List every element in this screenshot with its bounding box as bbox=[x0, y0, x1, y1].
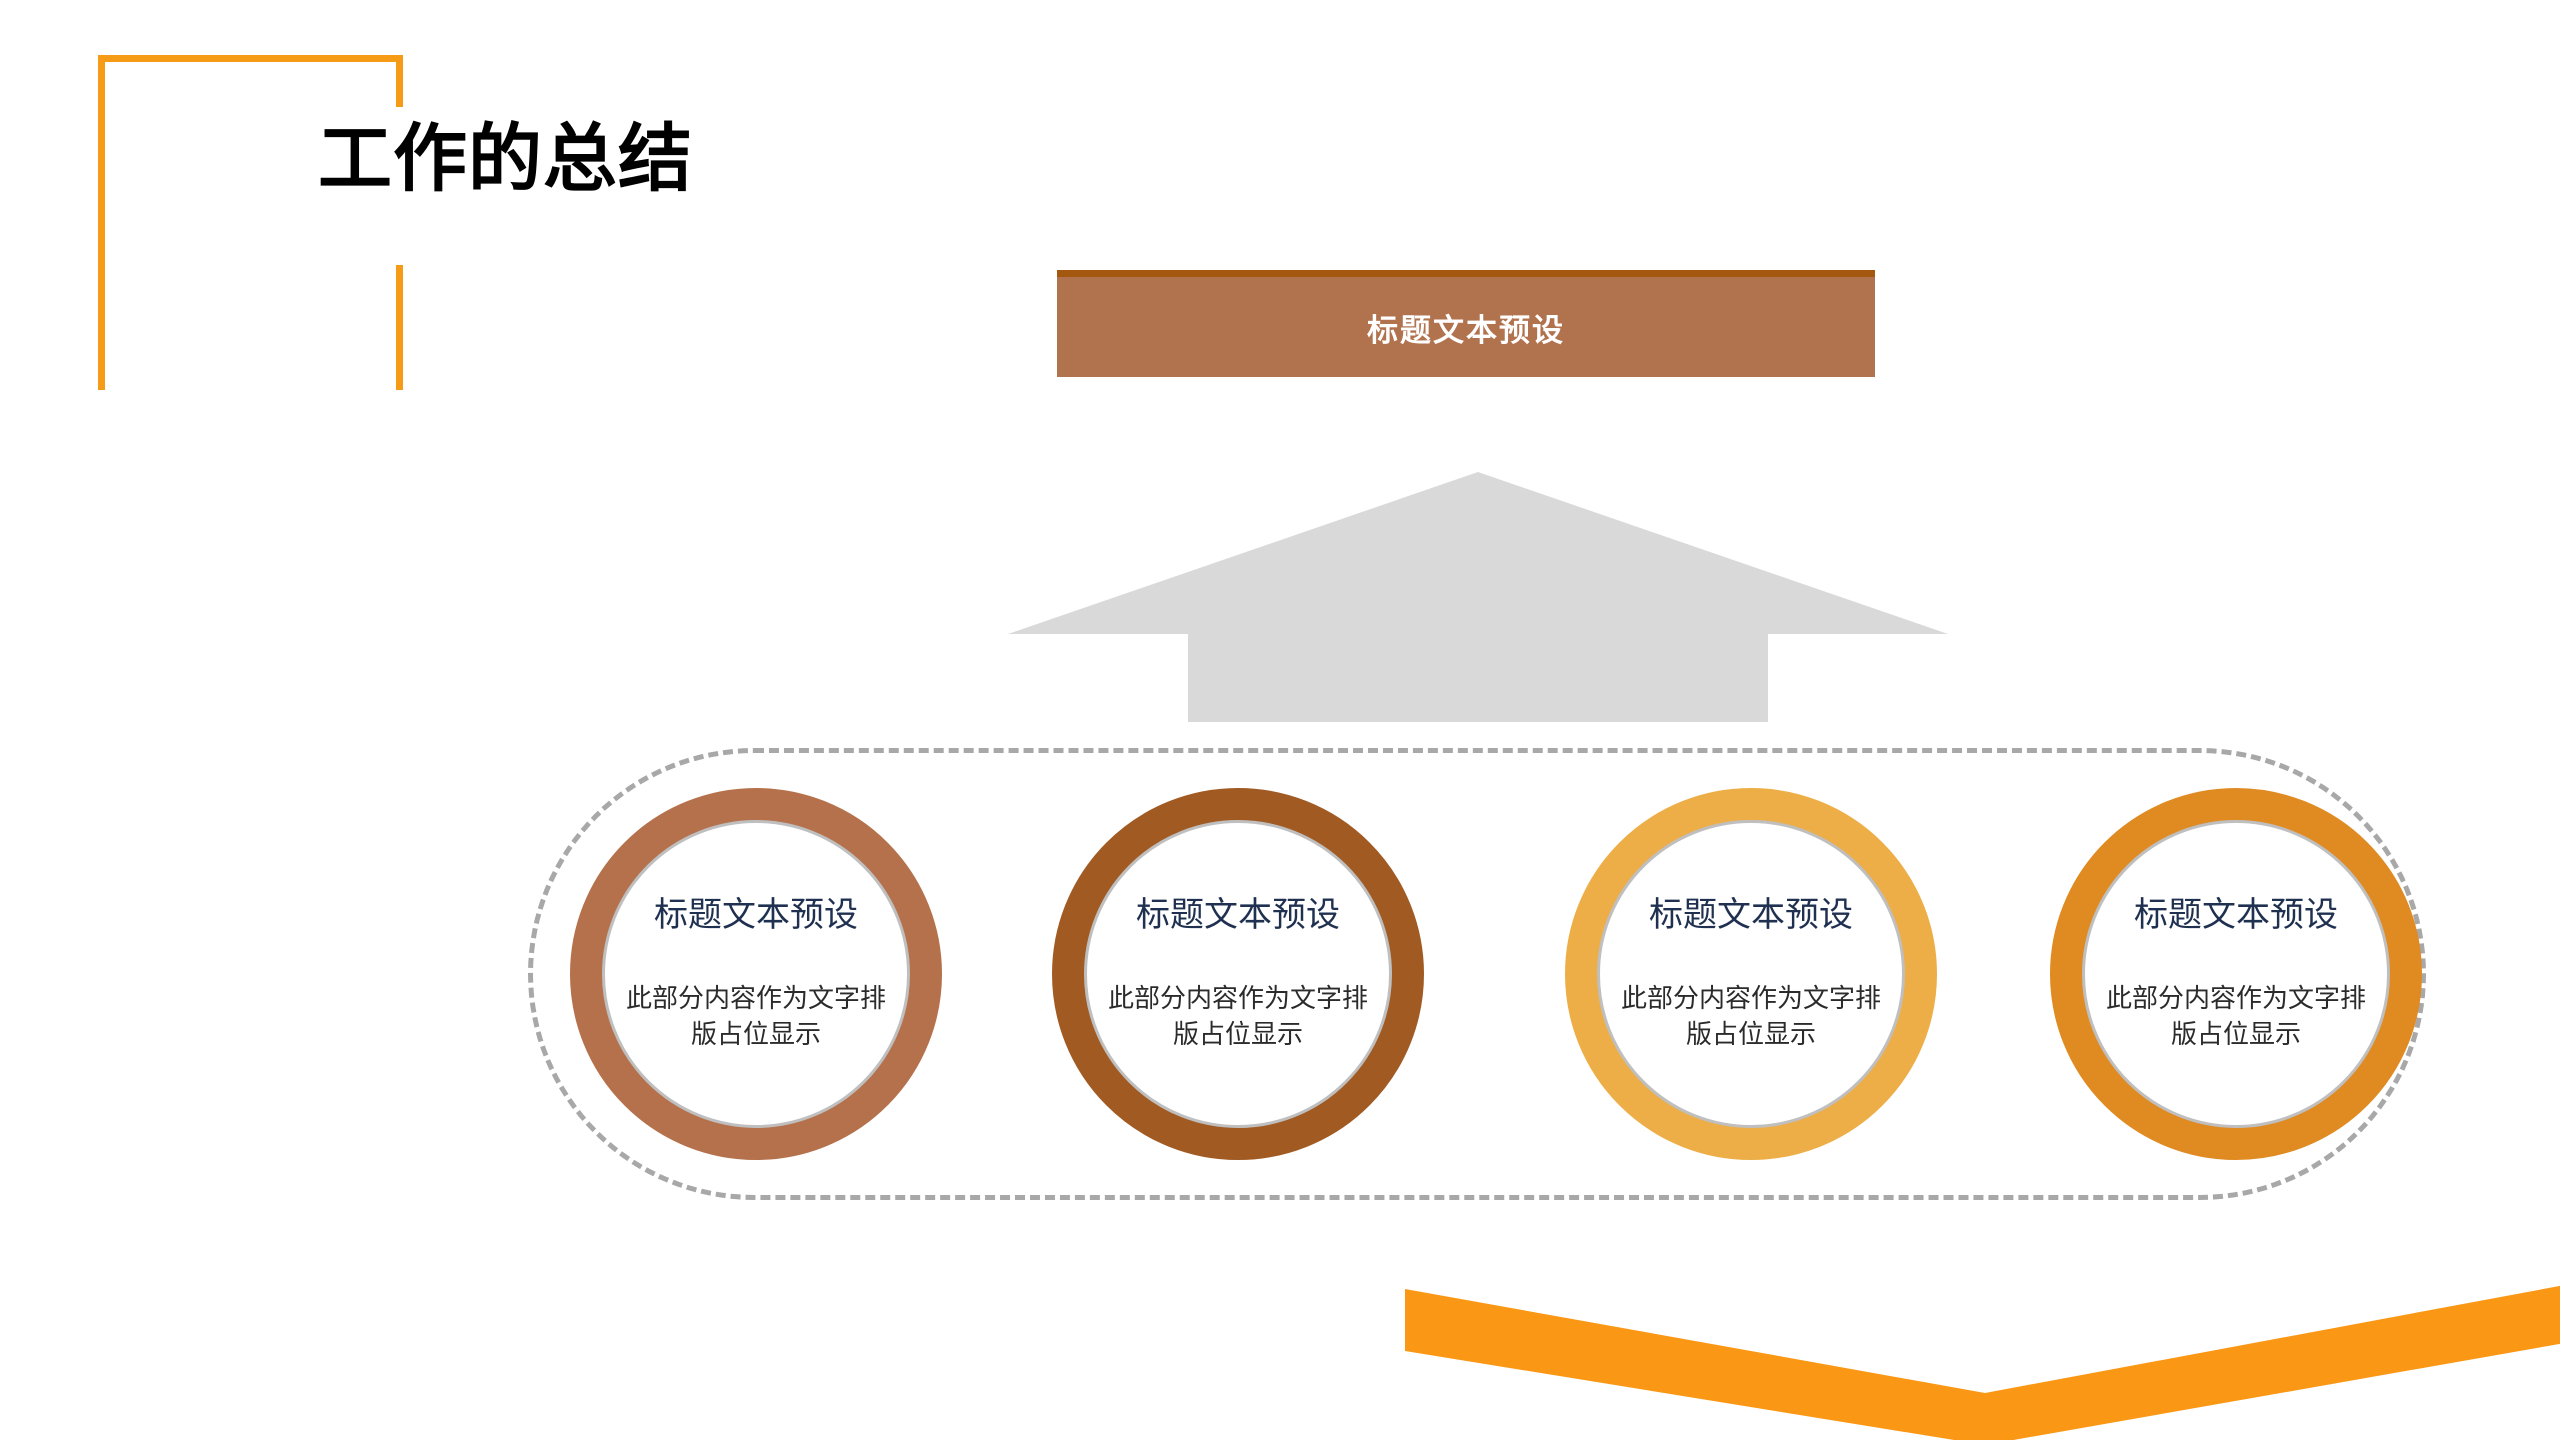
circle-text-1: 标题文本预设 此部分内容作为文字排版占位显示 bbox=[622, 896, 890, 1053]
frame-right-lower-bar bbox=[396, 265, 403, 390]
info-circle-3[interactable]: 标题文本预设 此部分内容作为文字排版占位显示 bbox=[1565, 788, 1937, 1160]
info-circle-4[interactable]: 标题文本预设 此部分内容作为文字排版占位显示 bbox=[2050, 788, 2422, 1160]
frame-top-bar bbox=[98, 55, 403, 62]
info-circle-2[interactable]: 标题文本预设 此部分内容作为文字排版占位显示 bbox=[1052, 788, 1424, 1160]
circle-body-3: 此部分内容作为文字排版占位显示 bbox=[1617, 981, 1885, 1053]
circle-body-4: 此部分内容作为文字排版占位显示 bbox=[2102, 981, 2370, 1053]
gray-up-arrow bbox=[1008, 472, 1948, 722]
header-banner: 标题文本预设 bbox=[1057, 270, 1875, 377]
frame-right-upper-bar bbox=[396, 55, 403, 107]
page-title: 工作的总结 bbox=[318, 122, 693, 196]
circle-title-4: 标题文本预设 bbox=[2102, 896, 2370, 935]
gray-up-arrow-shape bbox=[1008, 472, 1948, 722]
orange-down-chevron-shape bbox=[1405, 1285, 2560, 1440]
circle-title-1: 标题文本预设 bbox=[622, 896, 890, 935]
circle-body-2: 此部分内容作为文字排版占位显示 bbox=[1104, 981, 1372, 1053]
circle-text-4: 标题文本预设 此部分内容作为文字排版占位显示 bbox=[2102, 896, 2370, 1053]
info-circle-1[interactable]: 标题文本预设 此部分内容作为文字排版占位显示 bbox=[570, 788, 942, 1160]
circle-text-3: 标题文本预设 此部分内容作为文字排版占位显示 bbox=[1617, 896, 1885, 1053]
circle-text-2: 标题文本预设 此部分内容作为文字排版占位显示 bbox=[1104, 896, 1372, 1053]
header-banner-label: 标题文本预设 bbox=[1367, 305, 1565, 350]
slide-canvas: 工作的总结 标题文本预设 标题文本预设 此部分内容作为文字排版占位显示 标题文本… bbox=[0, 0, 2560, 1440]
circle-title-3: 标题文本预设 bbox=[1617, 896, 1885, 935]
circle-title-2: 标题文本预设 bbox=[1104, 896, 1372, 935]
orange-open-frame bbox=[98, 55, 403, 390]
frame-left-bar bbox=[98, 55, 105, 390]
circle-body-1: 此部分内容作为文字排版占位显示 bbox=[622, 981, 890, 1053]
orange-down-chevron bbox=[1405, 1285, 2560, 1440]
